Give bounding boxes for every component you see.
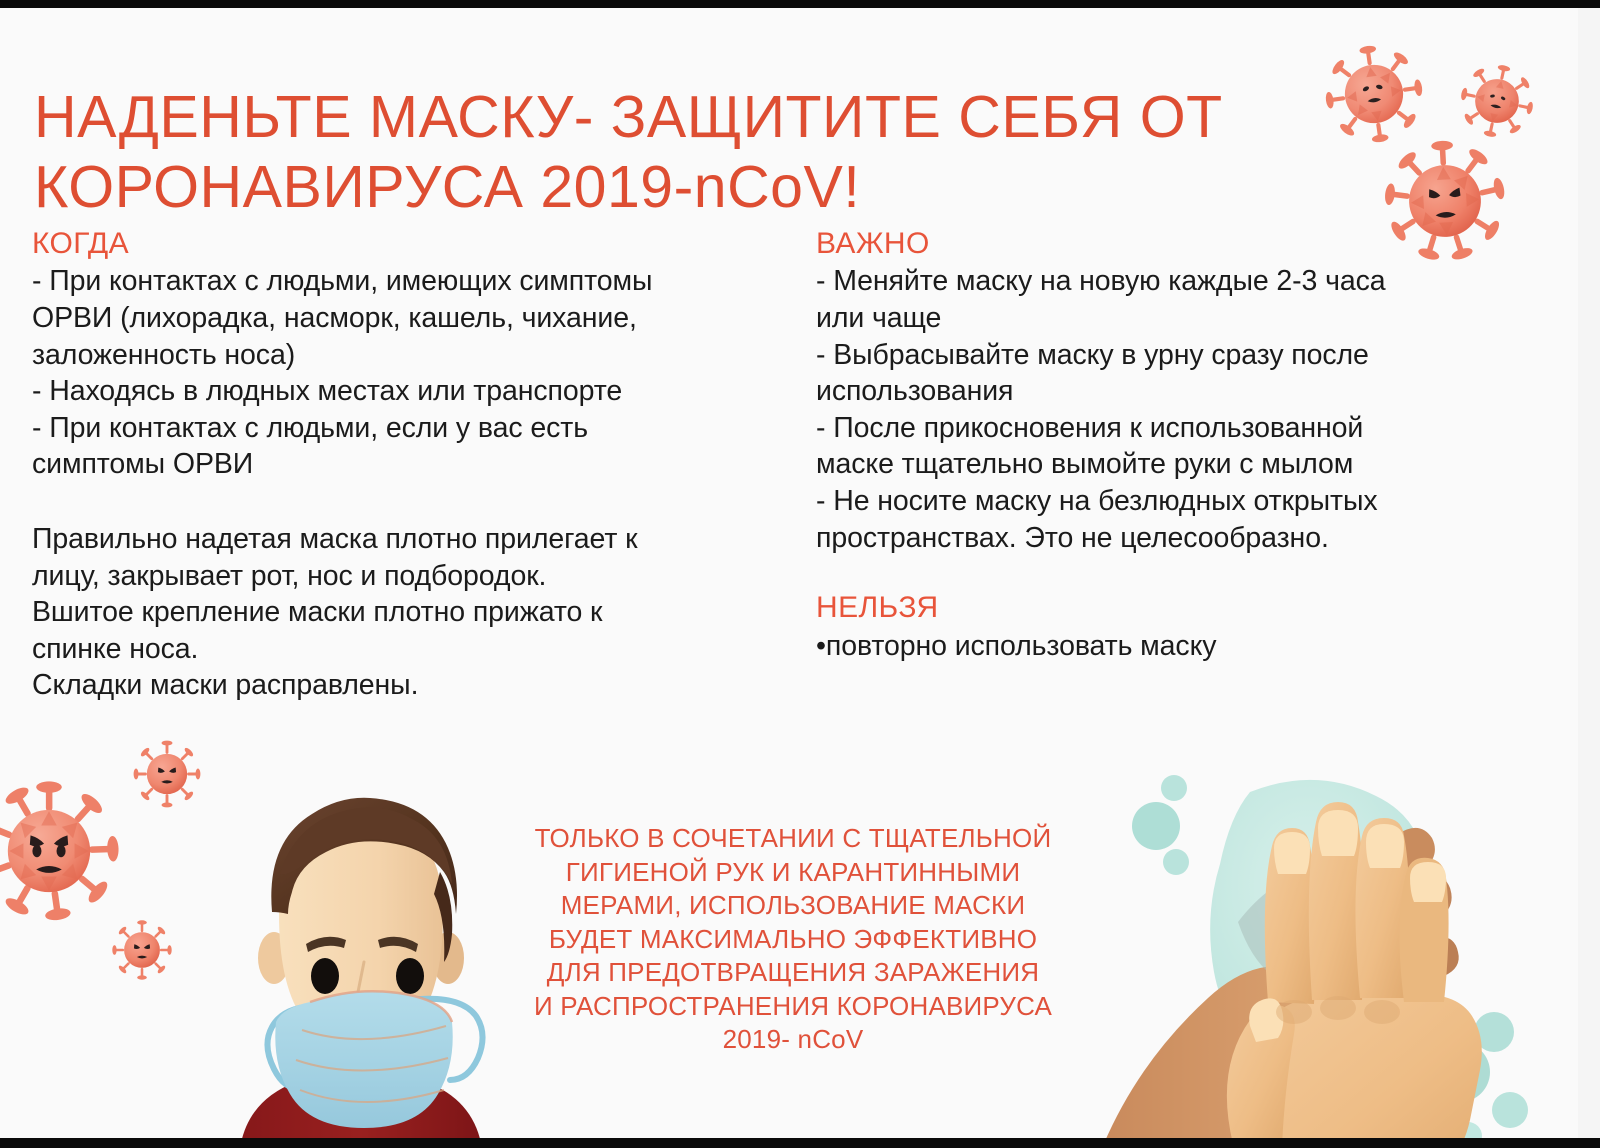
bubble: [1163, 849, 1189, 875]
forbidden-bullets: •повторно использовать маску: [816, 628, 1536, 665]
left-column: КОГДА - При контактах с людьми, имеющих …: [32, 226, 792, 704]
virus-bottom-left-large-icon: [0, 780, 120, 922]
when-bullets: - При контактах с людьми, имеющих симпто…: [32, 263, 792, 483]
section-heading-when: КОГДА: [32, 226, 792, 261]
correct-mask-paragraph: Правильно надетая маска плотно прилегает…: [32, 521, 792, 704]
page-title: НАДЕНЬТЕ МАСКУ- ЗАЩИТИТЕ СЕБЯ ОТ КОРОНАВ…: [34, 82, 1324, 222]
virus-bottom-left-small-1-icon: [131, 738, 203, 810]
right-edge-strip: [1578, 8, 1600, 1138]
boy-wearing-mask-illustration: [196, 762, 526, 1148]
virus-bottom-left-small-2-icon: [110, 918, 174, 982]
virus-top-right-1-icon: [1315, 35, 1432, 152]
hands-washing-illustration: [1082, 742, 1544, 1148]
poster-canvas: НАДЕНЬТЕ МАСКУ- ЗАЩИТИТЕ СЕБЯ ОТ КОРОНАВ…: [0, 0, 1600, 1148]
virus-top-right-2-icon: [1451, 55, 1544, 148]
top-black-bar: [0, 0, 1600, 8]
bottom-black-bar: [0, 1138, 1600, 1148]
bubble: [1132, 802, 1180, 850]
section-heading-forbidden: НЕЛЬЗЯ: [816, 590, 1536, 625]
right-column: ВАЖНО - Меняйте маску на новую каждые 2-…: [816, 226, 1536, 664]
section-heading-important: ВАЖНО: [816, 226, 1536, 261]
bottom-emphasis-note: ТОЛЬКО В СОЧЕТАНИИ С ТЩАТЕЛЬНОЙ ГИГИЕНОЙ…: [498, 822, 1088, 1057]
bubble: [1161, 775, 1187, 801]
bubble: [1492, 1092, 1528, 1128]
important-bullets: - Меняйте маску на новую каждые 2-3 часа…: [816, 263, 1536, 556]
